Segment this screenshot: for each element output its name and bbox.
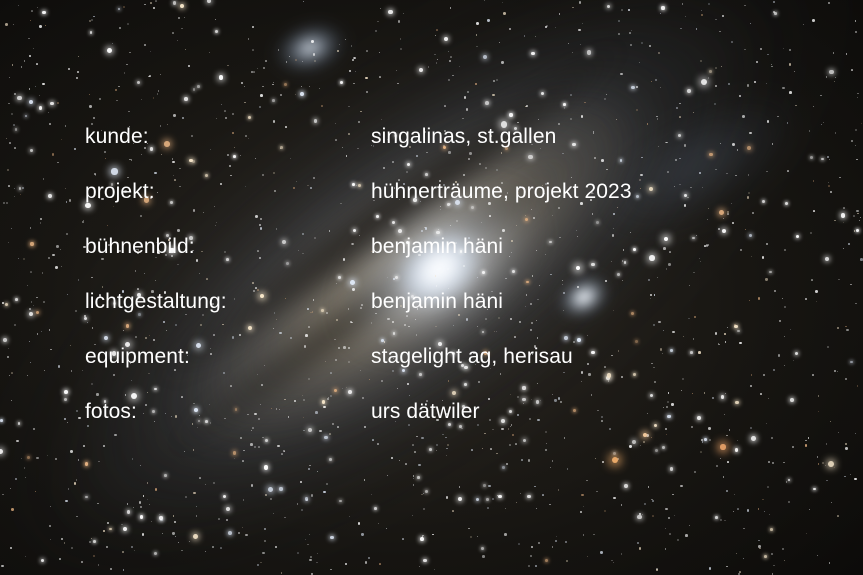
star: [835, 77, 836, 78]
star: [565, 541, 567, 543]
star: [666, 434, 667, 435]
star: [65, 188, 66, 189]
star: [18, 422, 21, 425]
star: [838, 279, 839, 280]
star: [624, 484, 628, 488]
star: [199, 477, 201, 479]
star: [818, 463, 819, 464]
star: [225, 117, 227, 119]
star: [760, 393, 762, 395]
star: [435, 35, 436, 36]
star: [193, 88, 196, 91]
star: [834, 467, 835, 468]
star: [365, 77, 368, 80]
star: [722, 229, 727, 234]
star: [423, 508, 425, 510]
star: [773, 565, 775, 567]
star: [112, 43, 113, 44]
star: [672, 494, 674, 496]
star: [693, 112, 694, 113]
star: [531, 52, 535, 56]
star: [317, 553, 318, 554]
star: [818, 411, 819, 412]
star: [792, 446, 794, 448]
star: [109, 528, 112, 531]
star: [378, 523, 379, 524]
star: [257, 564, 259, 566]
star: [669, 533, 671, 535]
star: [39, 95, 40, 96]
star: [157, 93, 159, 95]
star: [830, 191, 832, 193]
star: [496, 79, 498, 81]
star: [857, 385, 859, 387]
star: [251, 430, 252, 431]
star: [77, 71, 79, 73]
star: [144, 44, 146, 46]
star: [387, 475, 388, 476]
star: [265, 494, 266, 495]
star: [413, 475, 414, 476]
star: [821, 158, 824, 161]
star: [768, 461, 770, 463]
star: [78, 459, 80, 461]
star: [464, 96, 466, 98]
star: [689, 525, 690, 526]
star: [41, 331, 42, 332]
star: [820, 95, 821, 96]
star: [98, 564, 99, 565]
star: [397, 83, 398, 84]
star: [71, 547, 73, 549]
star: [639, 513, 641, 515]
star: [663, 247, 666, 250]
star: [545, 559, 548, 562]
star: [631, 86, 634, 89]
credit-value: hühnerträume, projekt 2023: [371, 175, 632, 208]
star: [132, 458, 133, 459]
star: [762, 256, 764, 258]
star: [297, 552, 299, 554]
star: [143, 495, 145, 497]
star: [727, 461, 729, 463]
star: [232, 113, 234, 115]
star: [309, 534, 310, 535]
star: [833, 52, 834, 53]
star: [83, 220, 84, 221]
star: [67, 422, 68, 423]
star: [353, 83, 354, 84]
star: [845, 378, 847, 380]
star: [14, 93, 15, 94]
star: [400, 38, 401, 39]
star: [766, 423, 767, 424]
star: [60, 249, 61, 250]
star: [245, 534, 248, 537]
star: [273, 82, 274, 83]
star: [42, 272, 44, 274]
star: [55, 458, 57, 460]
star: [586, 480, 587, 481]
star: [788, 501, 790, 503]
star: [140, 506, 141, 507]
star: [458, 497, 462, 501]
star: [189, 541, 190, 542]
star: [846, 53, 847, 54]
star: [694, 316, 696, 318]
star: [789, 91, 792, 94]
star: [843, 215, 845, 217]
star: [656, 568, 658, 570]
star: [727, 213, 729, 215]
star: [621, 553, 623, 555]
star: [570, 94, 572, 96]
star: [151, 521, 152, 522]
star: [37, 7, 38, 8]
star: [813, 180, 815, 182]
star: [690, 351, 693, 354]
star: [248, 116, 251, 119]
star: [485, 101, 489, 105]
star: [534, 486, 535, 487]
star: [701, 79, 707, 85]
star: [795, 352, 798, 355]
star: [413, 484, 414, 485]
star: [452, 510, 454, 512]
star: [756, 61, 758, 63]
star: [29, 88, 30, 89]
star: [783, 48, 784, 49]
star: [734, 324, 735, 325]
star: [845, 443, 847, 445]
star: [358, 522, 361, 525]
star: [7, 169, 8, 170]
star: [391, 457, 393, 459]
star: [550, 467, 551, 468]
star: [436, 444, 437, 445]
star: [705, 82, 706, 83]
star: [512, 434, 514, 436]
star: [127, 23, 129, 25]
star: [476, 22, 479, 25]
star: [284, 83, 287, 86]
star: [307, 544, 309, 546]
star: [238, 532, 240, 534]
star: [33, 428, 35, 430]
star: [428, 66, 430, 68]
star: [110, 568, 112, 570]
star: [668, 517, 670, 519]
star: [0, 419, 3, 422]
star: [40, 218, 42, 220]
star: [10, 488, 11, 489]
star: [297, 503, 298, 504]
star: [127, 510, 130, 513]
star: [679, 103, 681, 105]
star: [704, 438, 707, 441]
star: [446, 455, 447, 456]
star: [723, 476, 724, 477]
credit-value: benjamin häni: [371, 285, 632, 318]
star: [89, 105, 92, 108]
star: [714, 103, 716, 105]
star: [226, 507, 230, 511]
star: [19, 187, 22, 190]
star: [89, 20, 91, 22]
star: [366, 91, 368, 93]
star: [365, 561, 368, 564]
star: [828, 185, 830, 187]
star: [241, 82, 243, 84]
star: [699, 258, 700, 259]
star: [568, 43, 569, 44]
star: [722, 15, 724, 17]
star: [779, 320, 780, 321]
star: [99, 98, 101, 100]
star: [767, 54, 768, 55]
star: [67, 294, 68, 295]
star: [52, 153, 54, 155]
star: [716, 465, 718, 467]
star: [667, 401, 669, 403]
bright-star: [643, 433, 647, 437]
star: [828, 182, 829, 183]
star: [784, 306, 786, 308]
star: [751, 374, 752, 375]
star: [444, 105, 446, 107]
star: [683, 336, 684, 337]
star: [279, 487, 282, 490]
star: [637, 515, 641, 519]
star: [450, 7, 451, 8]
star: [760, 48, 762, 50]
star: [702, 441, 703, 442]
star: [506, 463, 508, 465]
star: [600, 551, 603, 554]
bright-star: [664, 237, 668, 241]
star: [43, 301, 45, 303]
star: [828, 461, 834, 467]
star: [656, 569, 658, 571]
star: [739, 342, 742, 345]
star: [758, 540, 760, 542]
star: [139, 501, 141, 503]
star: [809, 130, 811, 132]
star: [27, 456, 30, 459]
star: [771, 66, 773, 68]
star: [851, 69, 853, 71]
star: [388, 10, 392, 14]
star: [567, 468, 568, 469]
star: [442, 434, 444, 436]
star: [735, 401, 738, 404]
star: [227, 65, 228, 66]
star: [545, 449, 547, 451]
star: [736, 553, 737, 554]
star: [583, 506, 584, 507]
star: [482, 555, 485, 558]
star: [496, 453, 498, 455]
star: [762, 200, 765, 203]
star: [379, 52, 380, 53]
star: [82, 221, 84, 223]
star: [446, 448, 448, 450]
star: [810, 156, 813, 159]
star: [311, 494, 313, 496]
star: [556, 536, 557, 537]
star: [147, 499, 148, 500]
star: [128, 111, 129, 112]
star: [50, 539, 51, 540]
star: [694, 471, 696, 473]
star: [845, 326, 847, 328]
star: [555, 540, 557, 542]
star: [220, 547, 222, 549]
star: [339, 500, 342, 503]
star: [258, 446, 260, 448]
star: [353, 57, 355, 59]
star: [484, 433, 486, 435]
star: [68, 68, 70, 70]
star: [114, 434, 117, 437]
star: [666, 268, 668, 270]
star: [789, 63, 792, 66]
star: [796, 235, 799, 238]
star: [621, 9, 623, 11]
star: [14, 196, 15, 197]
star: [813, 488, 816, 491]
star: [30, 20, 31, 21]
star: [649, 255, 655, 261]
star: [805, 444, 808, 447]
star: [784, 336, 785, 337]
star: [749, 300, 750, 301]
star: [301, 86, 302, 87]
star: [142, 533, 145, 536]
star: [159, 514, 160, 515]
star: [739, 95, 741, 97]
star: [185, 49, 187, 51]
star: [155, 0, 157, 2]
star: [43, 178, 44, 179]
star: [803, 24, 804, 25]
star: [765, 278, 767, 280]
star: [64, 418, 67, 421]
star: [737, 508, 739, 510]
star: [635, 340, 638, 343]
star: [348, 106, 349, 107]
credits-slide: kunde:singalinas, st.gallenprojekt:hühne…: [0, 0, 863, 575]
star: [484, 0, 485, 1]
star: [654, 294, 656, 296]
star: [118, 86, 119, 87]
star: [300, 481, 302, 483]
star: [468, 528, 469, 529]
star: [657, 277, 658, 278]
star: [178, 17, 180, 19]
star: [257, 68, 258, 69]
star: [260, 562, 261, 563]
star: [667, 415, 670, 418]
star: [281, 453, 283, 455]
star: [446, 496, 449, 499]
star: [416, 436, 418, 438]
star: [13, 124, 14, 125]
star: [5, 23, 8, 26]
credit-label: bühnenbild:: [85, 230, 371, 263]
star: [707, 219, 708, 220]
star: [10, 547, 12, 549]
star: [744, 5, 746, 7]
star: [754, 81, 756, 83]
star: [665, 548, 666, 549]
star: [264, 540, 266, 542]
star: [651, 81, 652, 82]
star: [793, 360, 794, 361]
credit-label: lichtgestaltung:: [85, 285, 371, 318]
star: [723, 218, 724, 219]
star: [828, 2, 830, 4]
star: [740, 249, 742, 251]
star: [76, 516, 77, 517]
star: [93, 555, 95, 557]
star: [752, 212, 754, 214]
star: [771, 437, 772, 438]
star: [750, 23, 751, 24]
star: [750, 427, 752, 429]
star: [78, 56, 79, 57]
star: [65, 125, 66, 126]
star: [306, 499, 308, 501]
star: [725, 341, 727, 343]
star: [774, 12, 777, 15]
star: [24, 60, 25, 61]
star: [59, 558, 61, 560]
star: [93, 540, 96, 543]
star: [838, 432, 839, 433]
star: [412, 444, 414, 446]
star: [33, 48, 34, 49]
star: [505, 508, 507, 510]
star: [39, 25, 42, 28]
star: [483, 55, 487, 59]
star: [504, 533, 507, 536]
star: [806, 533, 807, 534]
star: [174, 521, 176, 523]
bright-star: [720, 444, 725, 449]
star: [295, 94, 296, 95]
star: [303, 1, 304, 2]
star: [652, 500, 654, 502]
star: [857, 97, 858, 98]
star: [436, 450, 437, 451]
star: [405, 463, 407, 465]
star: [9, 375, 10, 376]
star: [827, 346, 829, 348]
star: [281, 572, 283, 574]
star: [655, 449, 658, 452]
star: [172, 32, 174, 34]
star: [15, 478, 17, 480]
star: [823, 122, 824, 123]
star: [700, 261, 701, 262]
star: [709, 70, 712, 73]
star: [666, 406, 668, 408]
star: [487, 507, 489, 509]
star: [89, 541, 91, 543]
star: [536, 508, 538, 510]
star: [262, 86, 264, 88]
